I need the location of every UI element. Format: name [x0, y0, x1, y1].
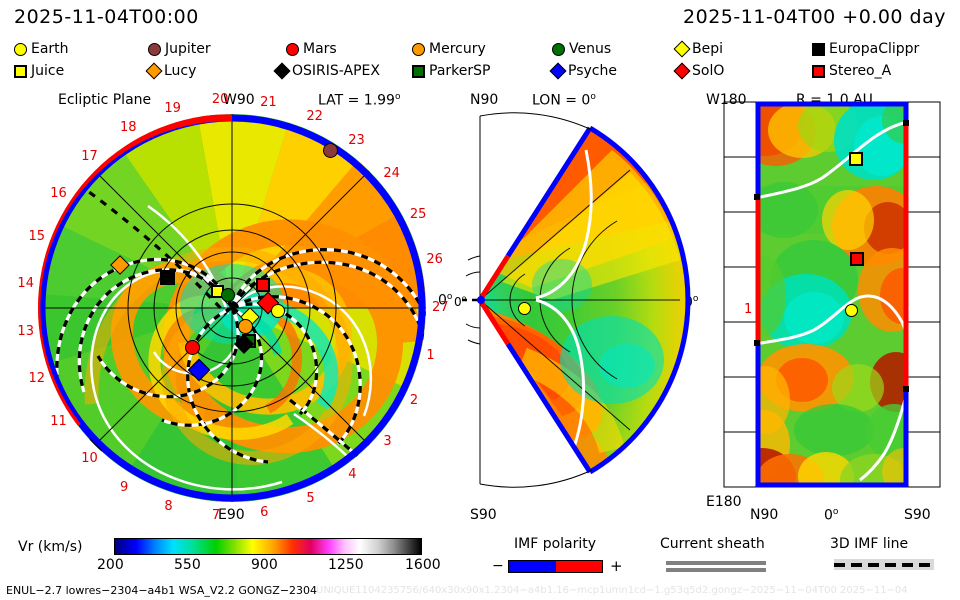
circle-marker-icon [552, 43, 565, 56]
legend-label: Lucy [164, 63, 196, 79]
imf-3d-line-title: 3D IMF line [830, 536, 908, 552]
legend-label: Bepi [692, 41, 723, 57]
colorbar-tick-1250: 1250 [328, 557, 364, 573]
circle-marker-icon [286, 43, 299, 56]
ecliptic-plane-panel[interactable]: Ecliptic Plane W90 LAT = 1.99o E90 0o [18, 92, 458, 532]
circle-marker-icon [412, 43, 425, 56]
plot-marker-psyche[interactable] [188, 359, 211, 382]
plot-marker-earth[interactable] [845, 304, 858, 317]
legend-label: Stereo_A [829, 63, 891, 79]
plot-marker-europaclippr[interactable] [160, 270, 175, 285]
square-marker-icon [412, 65, 425, 78]
plot-marker-stereo-a[interactable] [256, 278, 270, 292]
legend-item-parkersp[interactable]: ParkerSP [412, 60, 490, 82]
legend-item-juice[interactable]: Juice [14, 60, 64, 82]
imf-3d-dash [885, 563, 896, 567]
legend-label: Earth [31, 41, 69, 57]
legend-item-europaclippr[interactable]: EuropaClippr [812, 38, 919, 60]
legend-label: ParkerSP [429, 63, 490, 79]
current-sheath-title: Current sheath [660, 536, 765, 552]
legend-label: Venus [569, 41, 611, 57]
legend-label: OSIRIS-APEX [292, 63, 380, 79]
colorbar-tick-1600: 1600 [405, 557, 441, 573]
plot-marker-mars[interactable] [185, 340, 200, 355]
legend-label: Mars [303, 41, 337, 57]
legend-item-osiris-apex[interactable]: OSIRIS-APEX [276, 60, 380, 82]
colorbar-group: Vr (km/s) 20055090012501600 [18, 536, 438, 586]
imf-3d-line-sample [834, 559, 934, 570]
imf-3d-dash [902, 563, 913, 567]
plot-marker-earth[interactable] [271, 304, 285, 318]
imf-3d-dash [851, 563, 862, 567]
imf-negative-swatch [509, 561, 556, 572]
legend-item-lucy[interactable]: Lucy [148, 60, 196, 82]
legend-row-spacecraft: JuiceLucyOSIRIS-APEXParkerSPPsycheSolOSt… [0, 60, 960, 82]
legend-label: SolO [692, 63, 724, 79]
plot-marker-juice[interactable] [849, 152, 863, 166]
legend-item-venus[interactable]: Venus [552, 38, 611, 60]
diamond-marker-icon [674, 41, 691, 58]
synoptic-markers-layer[interactable] [706, 92, 956, 532]
model-version-footer: ENUL−2.7 lowres−2304−a4b1 WSA_V2.2 GONGZ… [6, 584, 317, 597]
circle-marker-icon [14, 43, 27, 56]
imf-polarity-title: IMF polarity [514, 536, 596, 552]
plot-marker-lucy[interactable] [110, 255, 130, 275]
diamond-marker-icon [674, 63, 691, 80]
legend-label: Jupiter [165, 41, 211, 57]
square-marker-icon [812, 65, 825, 78]
timestamp-left: 2025-11-04T00:00 [14, 6, 199, 28]
legend-label: Juice [31, 63, 64, 79]
colorbar-tick-550: 550 [174, 557, 201, 573]
imf-3d-dash [834, 563, 845, 567]
legend-label: EuropaClippr [829, 41, 919, 57]
plot-marker-stereo-a[interactable] [850, 252, 864, 266]
circle-marker-icon [148, 43, 161, 56]
plot-marker-mercury[interactable] [238, 319, 253, 334]
imf-polarity-bar [508, 560, 603, 573]
diamond-marker-icon [274, 63, 291, 80]
legend-label: Mercury [429, 41, 486, 57]
legend-item-bepi[interactable]: Bepi [676, 38, 723, 60]
legend-label: Psyche [568, 63, 617, 79]
plot-marker-jupiter[interactable] [323, 143, 338, 158]
legend-item-solo[interactable]: SolO [676, 60, 724, 82]
imf-positive-swatch [556, 561, 603, 572]
colorbar-tick-900: 900 [251, 557, 278, 573]
diamond-marker-icon [550, 63, 567, 80]
ecliptic-markers-layer[interactable] [18, 92, 458, 532]
imf-polarity-minus: − [492, 558, 504, 574]
imf-3d-dash [868, 563, 879, 567]
current-sheath-line-1 [666, 561, 766, 565]
legend-item-psyche[interactable]: Psyche [552, 60, 617, 82]
synoptic-map-panel[interactable]: W180 R = 1.0 AU E180 N90 0o S90 1 [706, 92, 956, 532]
colorbar-gradient [114, 538, 422, 555]
imf-polarity-plus: + [610, 557, 623, 575]
colorbar-label: Vr (km/s) [18, 539, 82, 555]
plot-marker-venus[interactable] [221, 288, 235, 302]
run-id-watermark: UNIQUE1104235756/640x30x90x1.2304−a4b1.1… [316, 585, 908, 596]
legend-item-stereo-a[interactable]: Stereo_A [812, 60, 891, 82]
bottom-legend-group: IMF polarity − + Current sheath 3D IMF l… [462, 536, 960, 586]
body-legend: EarthJupiterMarsMercuryVenusBepiEuropaCl… [0, 38, 960, 82]
legend-item-mars[interactable]: Mars [286, 38, 337, 60]
colorbar-tick-200: 200 [97, 557, 124, 573]
meridional-plane-panel[interactable]: N90 LON = 0o S90 0o 0o [462, 92, 700, 532]
meridional-markers-layer[interactable] [462, 92, 700, 532]
legend-item-mercury[interactable]: Mercury [412, 38, 486, 60]
diamond-marker-icon [146, 63, 163, 80]
legend-row-planets: EarthJupiterMarsMercuryVenusBepiEuropaCl… [0, 38, 960, 60]
legend-item-jupiter[interactable]: Jupiter [148, 38, 211, 60]
legend-item-earth[interactable]: Earth [14, 38, 69, 60]
square-marker-icon [812, 43, 825, 56]
imf-3d-dash [919, 563, 930, 567]
timestamp-right: 2025-11-04T00 +0.00 day [683, 6, 946, 28]
plot-marker-earth[interactable] [518, 302, 531, 315]
current-sheath-line-2 [666, 568, 766, 572]
square-marker-icon [14, 65, 27, 78]
